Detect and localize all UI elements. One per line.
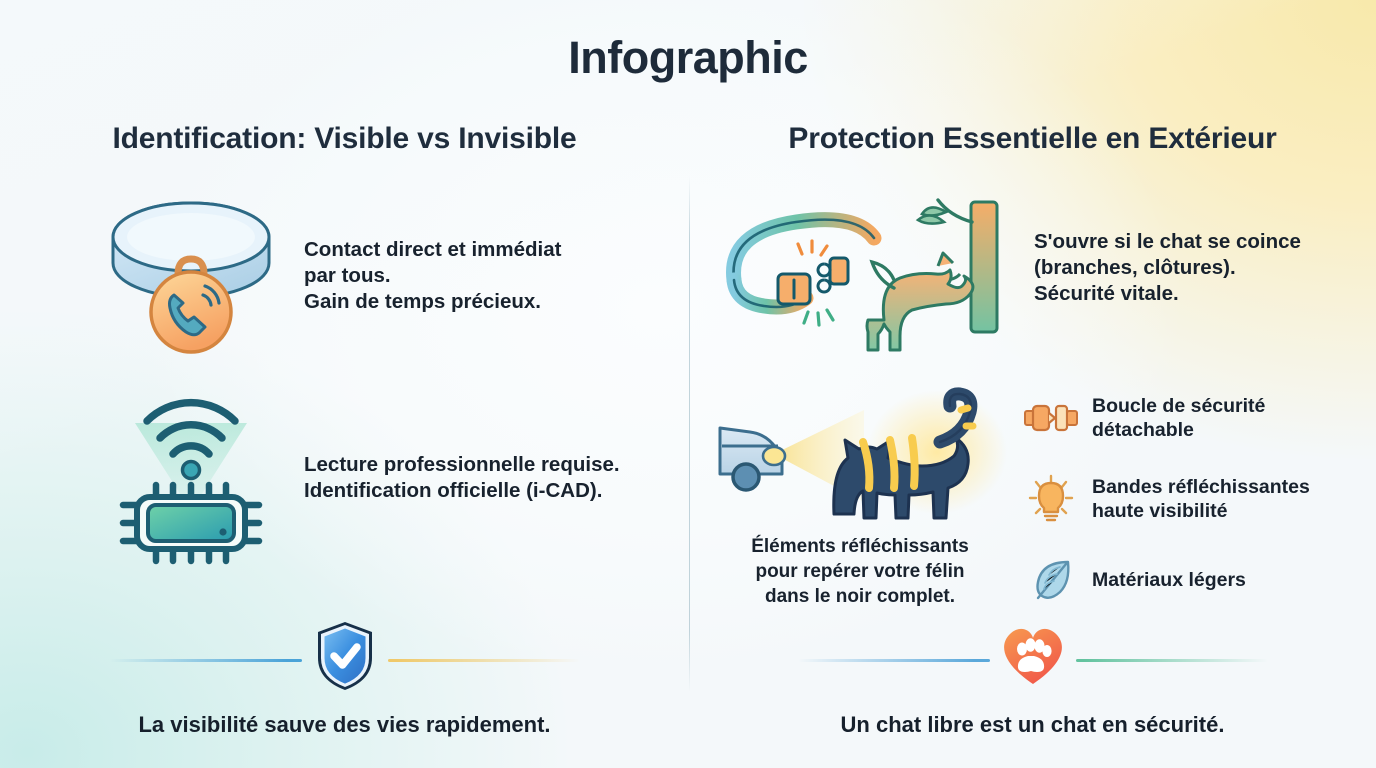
car-headlight-reflective-cat-icon	[712, 382, 1012, 532]
bullet-item: Matériaux légers	[1022, 554, 1362, 606]
right-scene-caption: Éléments réfléchissants pour repérer vot…	[712, 534, 1008, 609]
left-column: Identification: Visible vs Invisible	[0, 0, 689, 768]
left-item-2: Lecture professionnelle requise. Identif…	[96, 392, 676, 564]
microchip-signal-icon	[96, 392, 286, 564]
collar-with-phone-tag-icon	[96, 196, 286, 356]
left-item-1: Contact direct et immédiat par tous. Gai…	[96, 196, 676, 356]
right-column-heading: Protection Essentielle en Extérieur	[689, 122, 1376, 156]
shield-check-icon	[0, 620, 689, 692]
bullet-item: Bandes réfléchissantes haute visibilité	[1022, 473, 1362, 525]
left-item-1-text: Contact direct et immédiat par tous. Gai…	[304, 237, 561, 316]
feather-icon	[1022, 554, 1080, 606]
safety-buckle-icon	[1022, 392, 1080, 444]
right-bullet-list: Boucle de sécurité détachable	[1022, 392, 1362, 606]
lightbulb-icon	[1022, 473, 1080, 525]
breakaway-collar-cat-tree-icon	[716, 192, 1016, 358]
left-footer-tagline: La visibilité sauve des vies rapidement.	[0, 712, 689, 738]
bullet-item: Boucle de sécurité détachable	[1022, 392, 1362, 444]
right-item-1-text: S'ouvre si le chat se coince (branches, …	[1034, 229, 1354, 308]
bullet-label: Bandes réfléchissantes haute visibilité	[1092, 475, 1310, 524]
left-item-2-text: Lecture professionnelle requise. Identif…	[304, 452, 620, 504]
left-column-heading: Identification: Visible vs Invisible	[0, 122, 689, 156]
bullet-label: Boucle de sécurité détachable	[1092, 394, 1265, 443]
bullet-label: Matériaux légers	[1092, 568, 1246, 592]
